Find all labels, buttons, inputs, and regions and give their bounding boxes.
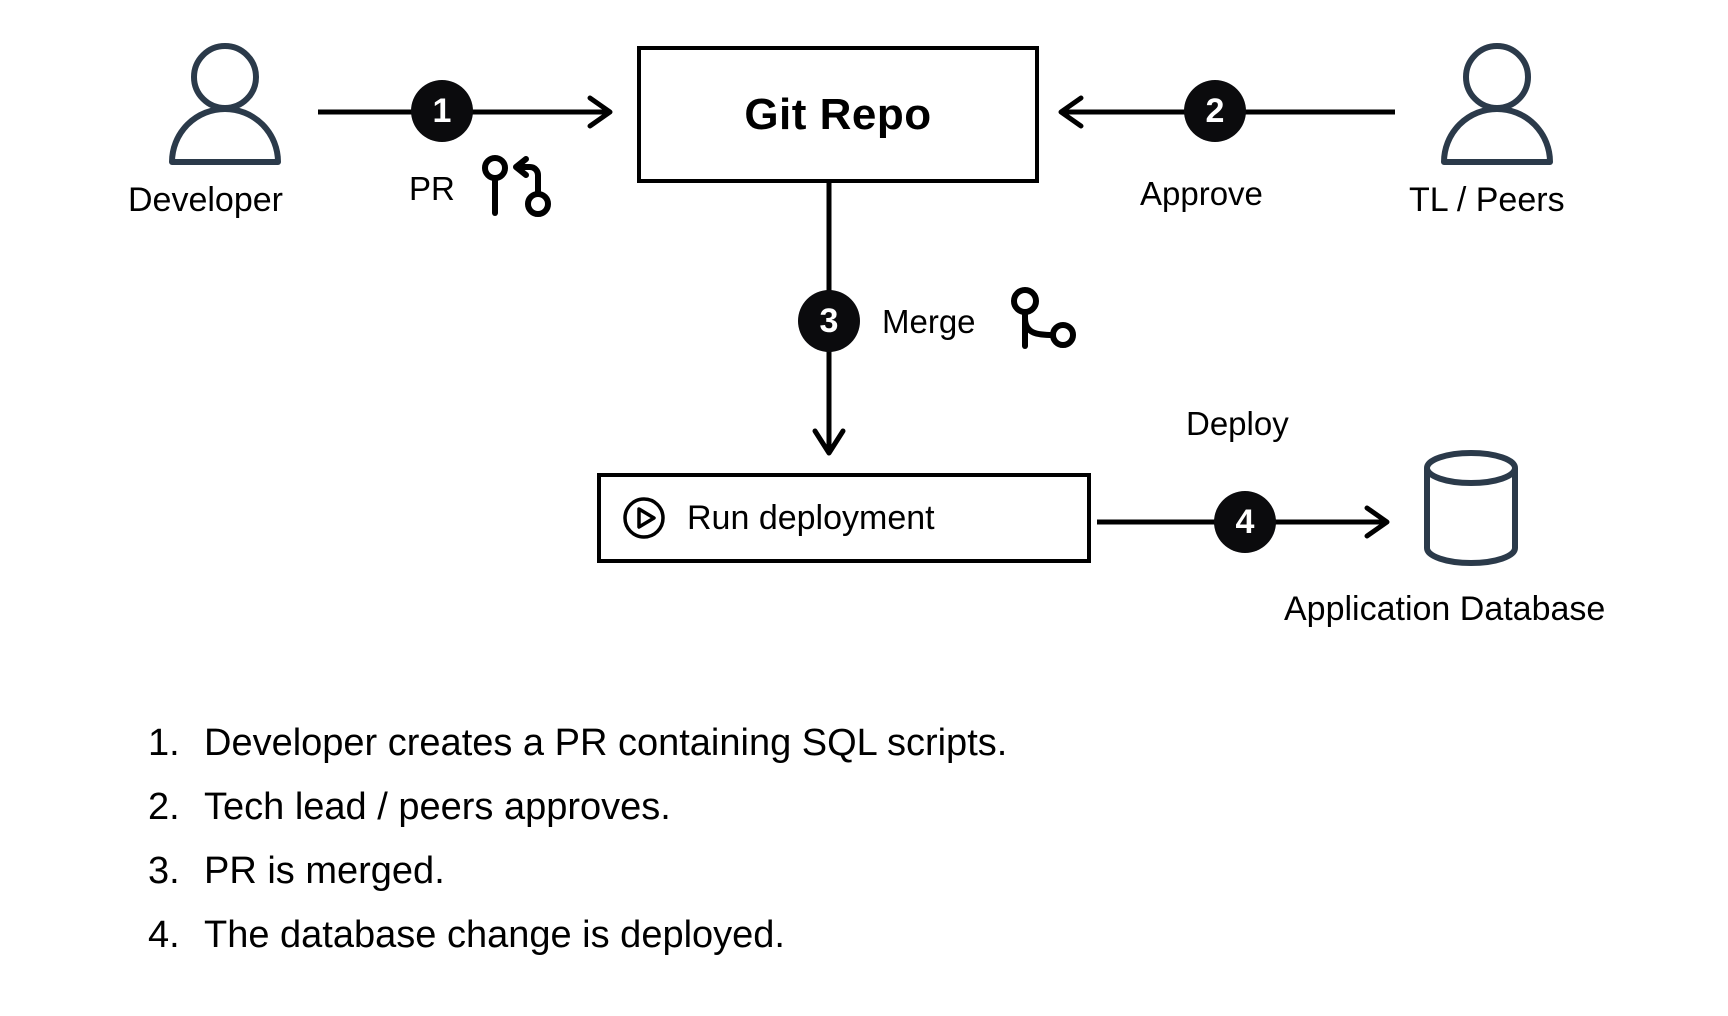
person-icon <box>1432 40 1562 165</box>
flow-label-merge: Merge <box>882 305 976 338</box>
step-badge-1-number: 1 <box>433 94 452 128</box>
person-icon <box>160 40 290 165</box>
list-item: 2. Tech lead / peers approves. <box>148 786 1448 829</box>
step-badge-3: 3 <box>798 290 860 352</box>
list-item-text: Tech lead / peers approves. <box>204 786 671 829</box>
node-run-deployment-label: Run deployment <box>687 501 935 535</box>
actor-tl-peers <box>1432 40 1562 165</box>
diagram-canvas: Developer 1 PR Git Repo 2 Approve <box>0 0 1728 1016</box>
actor-application-database <box>1419 448 1523 570</box>
list-item-number: 1. <box>148 722 204 765</box>
list-item-text: The database change is deployed. <box>204 914 785 957</box>
actor-developer <box>160 40 290 165</box>
list-item: 3. PR is merged. <box>148 850 1448 893</box>
flow-label-approve: Approve <box>1140 177 1263 210</box>
step-badge-2: 2 <box>1184 80 1246 142</box>
step-badge-4: 4 <box>1214 491 1276 553</box>
git-merge-icon <box>1008 288 1076 350</box>
list-item-number: 3. <box>148 850 204 893</box>
actor-application-database-label: Application Database <box>1284 592 1605 626</box>
list-item-text: Developer creates a PR containing SQL sc… <box>204 722 1007 765</box>
step-badge-3-number: 3 <box>820 304 839 338</box>
list-item-number: 2. <box>148 786 204 829</box>
database-cylinder-icon <box>1419 448 1523 570</box>
flow-label-deploy: Deploy <box>1186 407 1289 440</box>
actor-developer-label: Developer <box>128 183 283 217</box>
steps-list: 1. Developer creates a PR containing SQL… <box>148 722 1448 978</box>
step-badge-4-number: 4 <box>1236 505 1255 539</box>
flow-arrow-1 <box>318 94 628 130</box>
list-item: 4. The database change is deployed. <box>148 914 1448 957</box>
node-git-repo[interactable]: Git Repo <box>637 46 1039 183</box>
list-item-number: 4. <box>148 914 204 957</box>
pull-request-icon <box>482 155 552 217</box>
list-item-text: PR is merged. <box>204 850 445 893</box>
play-circle-icon <box>621 495 667 541</box>
node-git-repo-label: Git Repo <box>744 93 931 137</box>
list-item: 1. Developer creates a PR containing SQL… <box>148 722 1448 765</box>
flow-label-pr: PR <box>409 172 455 205</box>
step-badge-2-number: 2 <box>1206 94 1225 128</box>
node-run-deployment[interactable]: Run deployment <box>597 473 1091 563</box>
step-badge-1: 1 <box>411 80 473 142</box>
actor-tl-peers-label: TL / Peers <box>1409 183 1565 217</box>
